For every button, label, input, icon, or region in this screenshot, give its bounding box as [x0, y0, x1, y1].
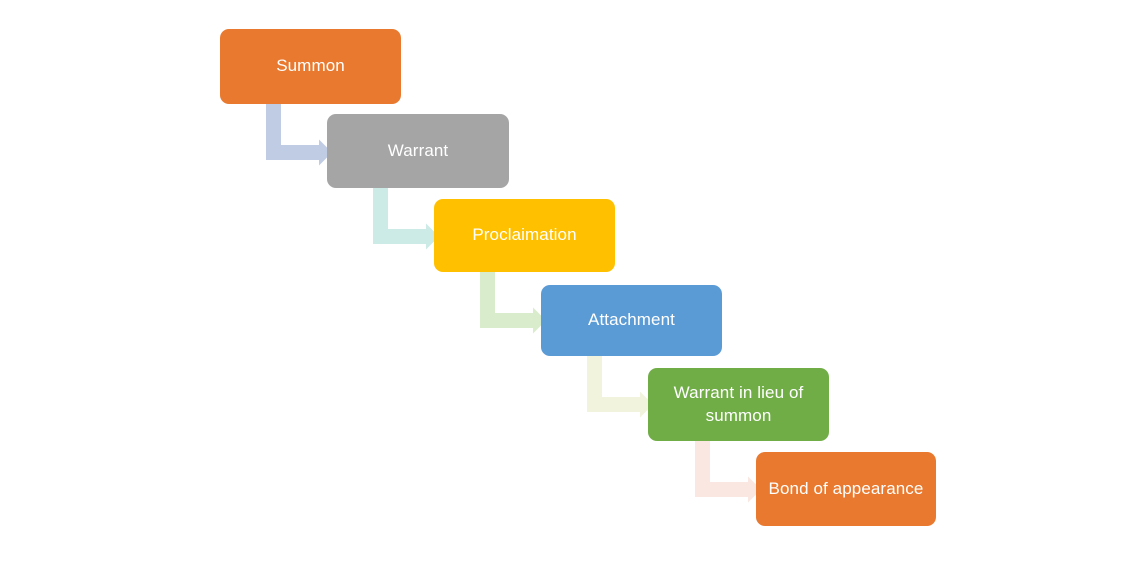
node-warrant[interactable]: Warrant [327, 114, 509, 188]
node-attachment[interactable]: Attachment [541, 285, 722, 356]
node-bond-of-appearance[interactable]: Bond of appearance [756, 452, 936, 526]
connector-attachment-to-warrant-in-lieu [587, 356, 653, 412]
node-attachment-label: Attachment [553, 309, 710, 331]
connector-proclaimation-to-attachment [480, 272, 546, 328]
connector-summon-to-warrant [266, 104, 332, 160]
node-bond-of-appearance-label: Bond of appearance [768, 478, 924, 500]
node-summon[interactable]: Summon [220, 29, 401, 104]
node-proclaimation[interactable]: Proclaimation [434, 199, 615, 272]
node-warrant-label: Warrant [339, 140, 497, 162]
diagram-canvas: Summon Warrant Proclaimation Attachment … [0, 0, 1136, 561]
node-proclaimation-label: Proclaimation [446, 224, 603, 246]
node-warrant-in-lieu-of-summon-label: Warrant in lieu of summon [660, 382, 817, 427]
connector-warrant-in-lieu-to-bond [695, 441, 761, 497]
node-summon-label: Summon [232, 55, 389, 77]
node-warrant-in-lieu-of-summon[interactable]: Warrant in lieu of summon [648, 368, 829, 441]
connector-warrant-to-proclaimation [373, 188, 439, 244]
